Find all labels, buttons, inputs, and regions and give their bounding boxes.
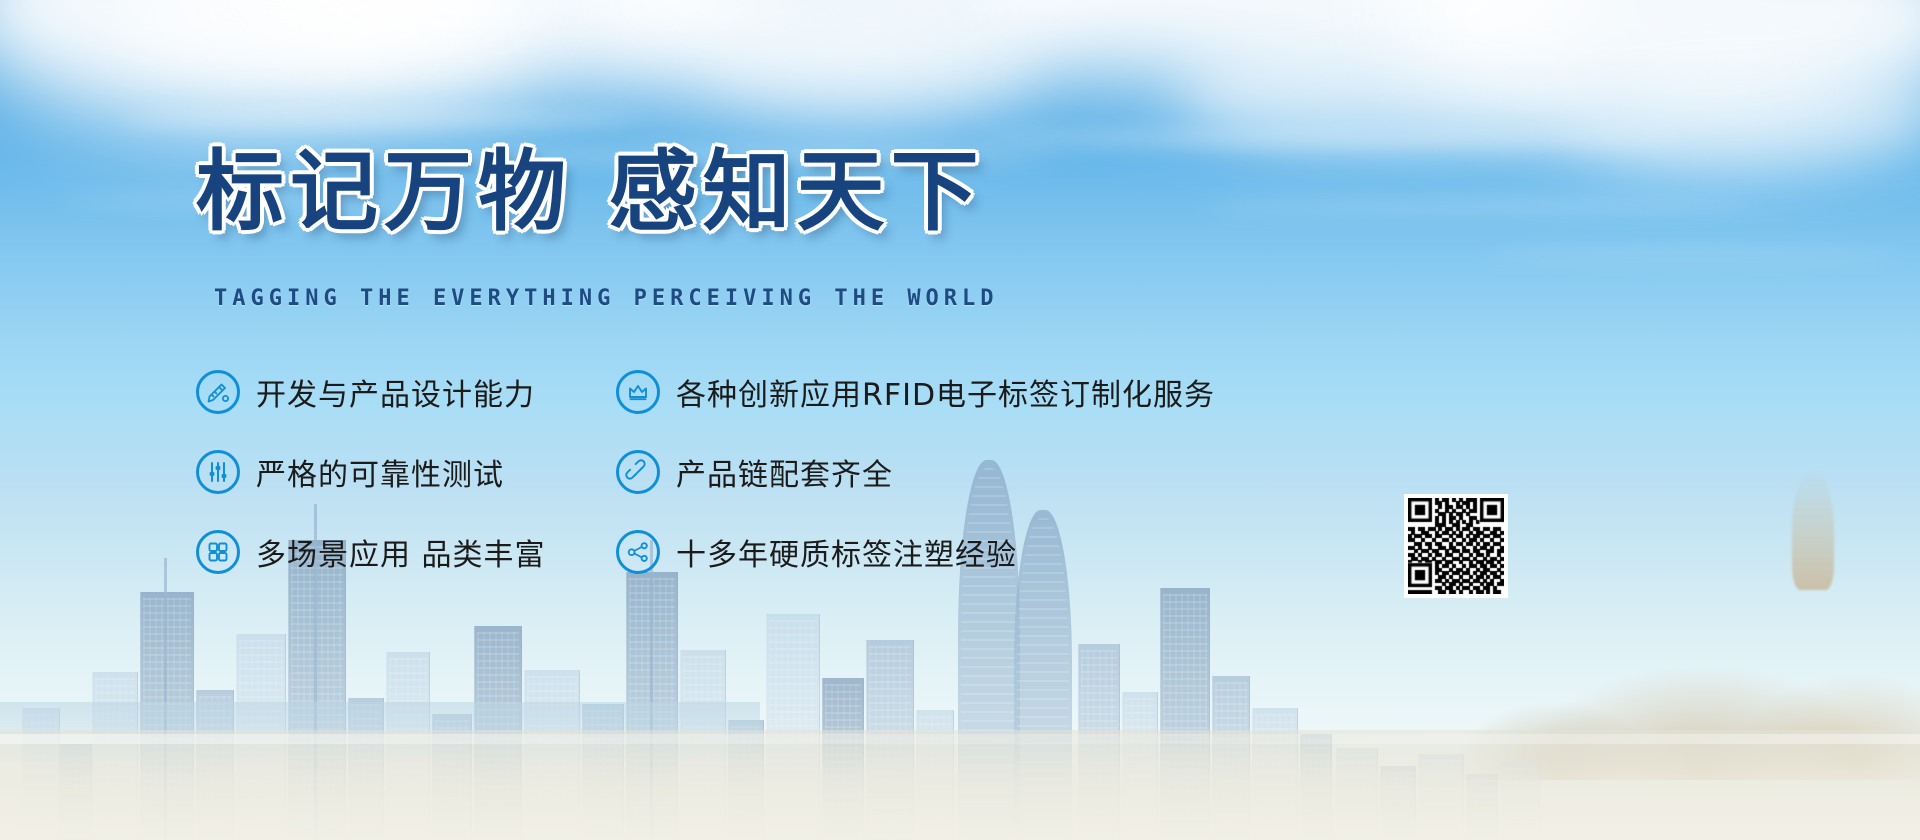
- chain-link-icon: [616, 450, 660, 494]
- feature-label: 严格的可靠性测试: [256, 450, 504, 494]
- feature-label: 开发与产品设计能力: [256, 370, 535, 414]
- feature-column-left: 开发与产品设计能力: [196, 352, 546, 592]
- promo-banner: 标记万物 感知天下 TAGGING THE EVERYTHING PERCEIV…: [0, 0, 1920, 840]
- feature-item-injection-molding-experience: 十多年硬质标签注塑经验: [616, 512, 1215, 592]
- feature-label: 产品链配套齐全: [676, 450, 893, 494]
- feature-item-reliability-testing: 严格的可靠性测试: [196, 432, 546, 512]
- share-network-icon: [616, 530, 660, 574]
- qr-code-canvas: [1408, 498, 1504, 594]
- equalizer-sliders-icon: [196, 450, 240, 494]
- grid-four-squares-icon: [196, 530, 240, 574]
- page-title: 标记万物 感知天下: [196, 148, 985, 236]
- page-subtitle: TAGGING THE EVERYTHING PERCEIVING THE WO…: [214, 286, 999, 311]
- feature-item-design-capability: 开发与产品设计能力: [196, 352, 546, 432]
- feature-item-multi-scenario: 多场景应用 品类丰富: [196, 512, 546, 592]
- crown-icon: [616, 370, 660, 414]
- ruler-pencil-icon: [196, 370, 240, 414]
- feature-label: 十多年硬质标签注塑经验: [676, 530, 1017, 574]
- feature-item-complete-product-chain: 产品链配套齐全: [616, 432, 1215, 512]
- feature-label: 多场景应用 品类丰富: [256, 530, 546, 574]
- qr-code[interactable]: [1404, 494, 1508, 598]
- feature-item-custom-rfid-service: 各种创新应用RFID电子标签订制化服务: [616, 352, 1215, 432]
- feature-column-right: 各种创新应用RFID电子标签订制化服务 产品链配套齐全: [616, 352, 1215, 592]
- feature-label: 各种创新应用RFID电子标签订制化服务: [676, 370, 1215, 414]
